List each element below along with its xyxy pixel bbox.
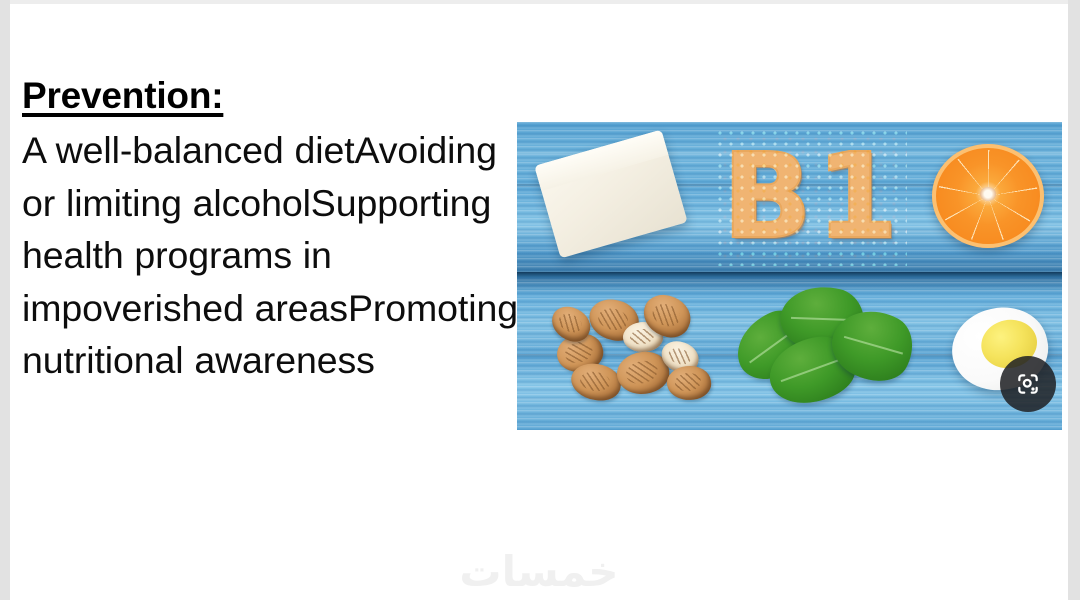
photo-inner: B1 xyxy=(517,122,1062,430)
spinach-leaves xyxy=(735,280,917,420)
page-edge-right xyxy=(1068,0,1080,600)
slide-canvas: Prevention: A well-balanced dietAvoiding… xyxy=(10,4,1068,600)
walnut-half xyxy=(569,361,624,404)
slide-page: Prevention: A well-balanced dietAvoiding… xyxy=(0,0,1080,600)
page-edge-left xyxy=(0,0,10,600)
plank-seam-center xyxy=(517,272,1062,277)
food-photo[interactable]: B1 xyxy=(517,122,1062,430)
google-lens-icon xyxy=(1015,371,1041,397)
google-lens-button[interactable] xyxy=(1000,356,1056,412)
walnut-pile xyxy=(551,290,726,408)
page-title: Prevention: xyxy=(22,70,518,122)
orange-half xyxy=(932,144,1044,248)
lentil-letters-b1: B1 xyxy=(717,130,907,266)
text-block: Prevention: A well-balanced dietAvoiding… xyxy=(22,70,518,387)
prevention-body-text: A well-balanced dietAvoiding or limiting… xyxy=(22,124,518,387)
orange-core xyxy=(980,187,996,201)
watermark: خمسات xyxy=(10,547,1068,596)
